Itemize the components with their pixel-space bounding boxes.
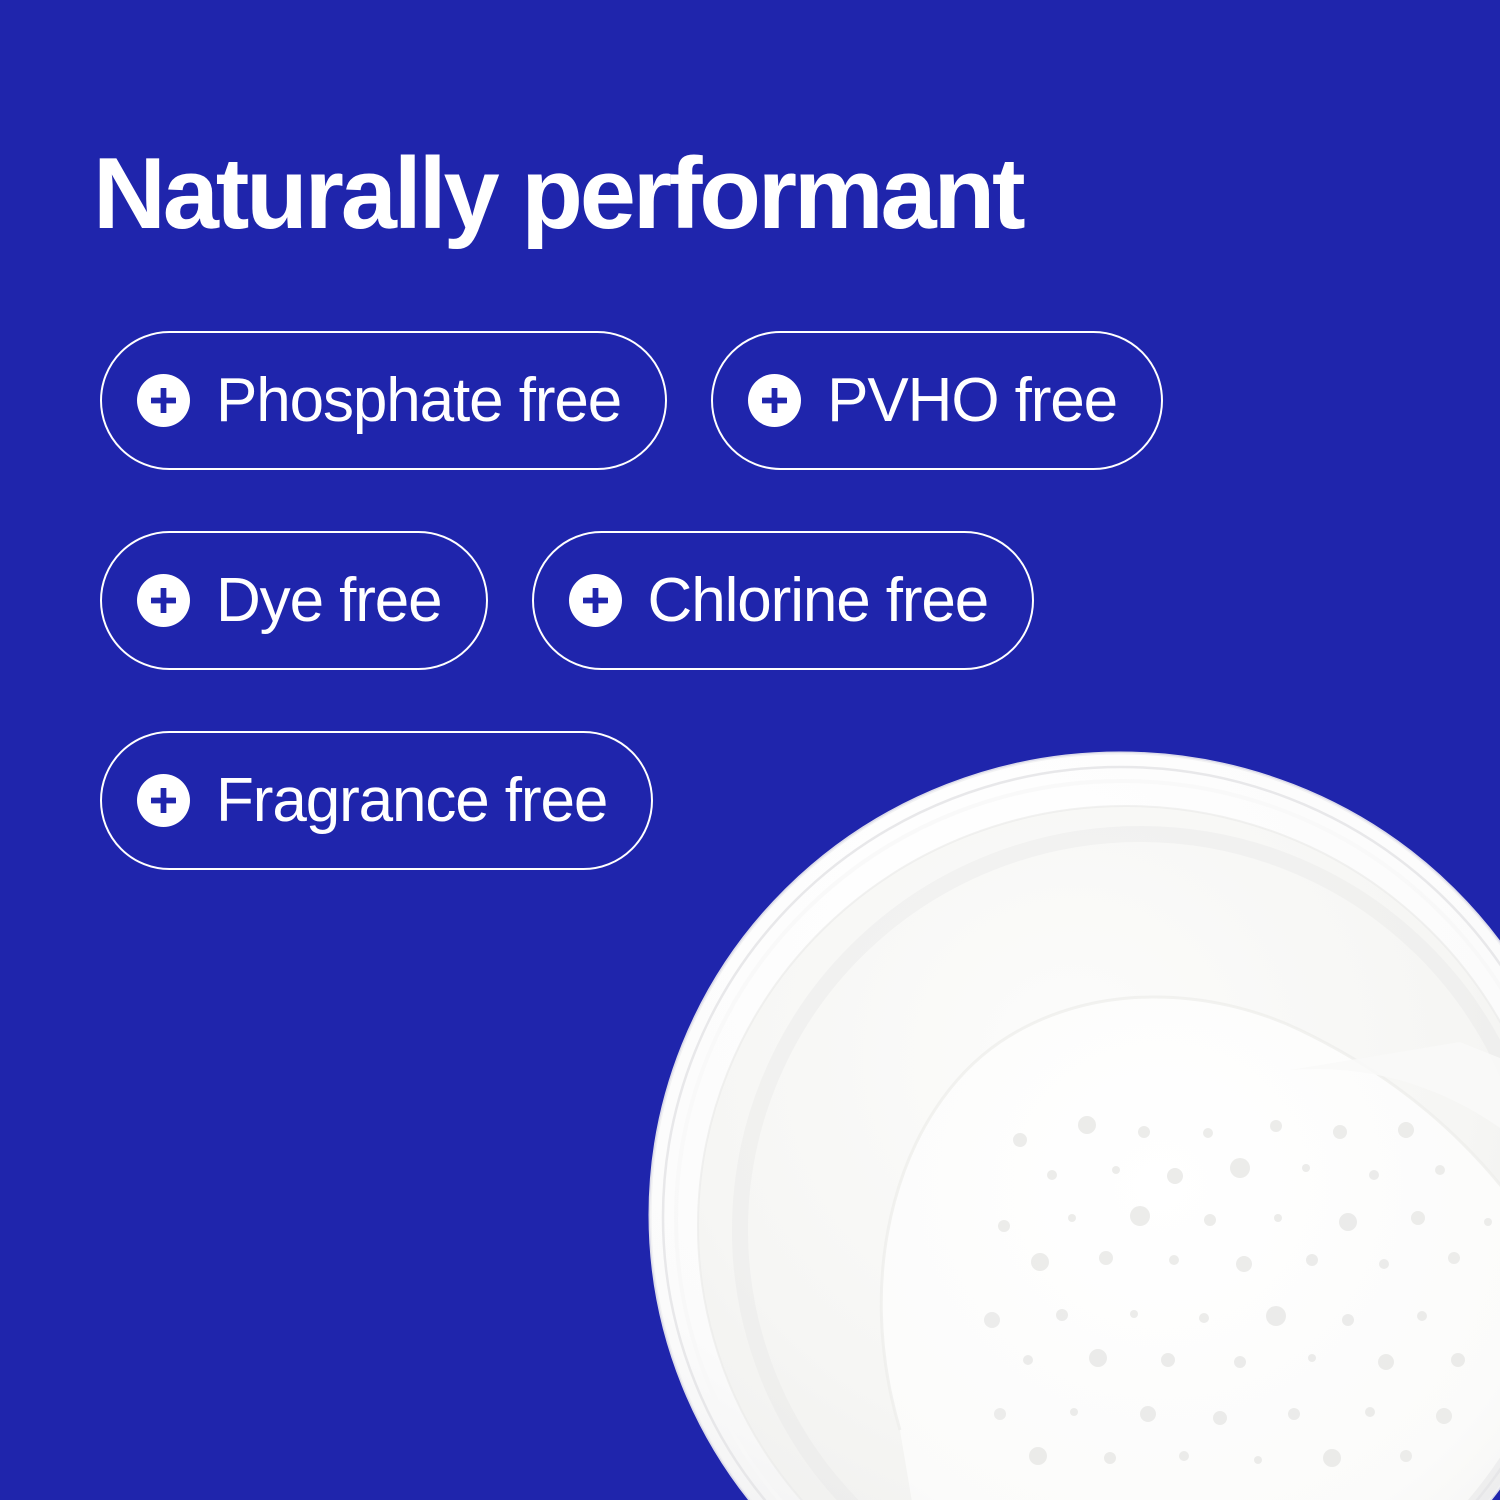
page-title: Naturally performant [93,142,1423,247]
claim-badge-pvho-free[interactable]: PVHO free [711,331,1163,470]
claims-row: Dye free Chlorine free [100,531,1300,670]
plus-circle-icon [137,774,190,827]
plus-circle-icon [748,374,801,427]
claims-list: Phosphate free PVHO free [100,331,1300,870]
plus-circle-icon [137,374,190,427]
plus-circle-icon [569,574,622,627]
claim-label: Dye free [216,570,442,632]
claim-label: PVHO free [827,370,1117,432]
promo-panel: Naturally performant Phosphate free [0,0,1500,1500]
claim-badge-dye-free[interactable]: Dye free [100,531,488,670]
claim-badge-chlorine-free[interactable]: Chlorine free [532,531,1035,670]
claims-row: Fragrance free [100,731,1300,870]
claim-label: Chlorine free [648,570,989,632]
plus-circle-icon [137,574,190,627]
claim-label: Fragrance free [216,770,607,832]
claims-row: Phosphate free PVHO free [100,331,1300,470]
claim-badge-fragrance-free[interactable]: Fragrance free [100,731,653,870]
claim-badge-phosphate-free[interactable]: Phosphate free [100,331,667,470]
claim-label: Phosphate free [216,370,621,432]
